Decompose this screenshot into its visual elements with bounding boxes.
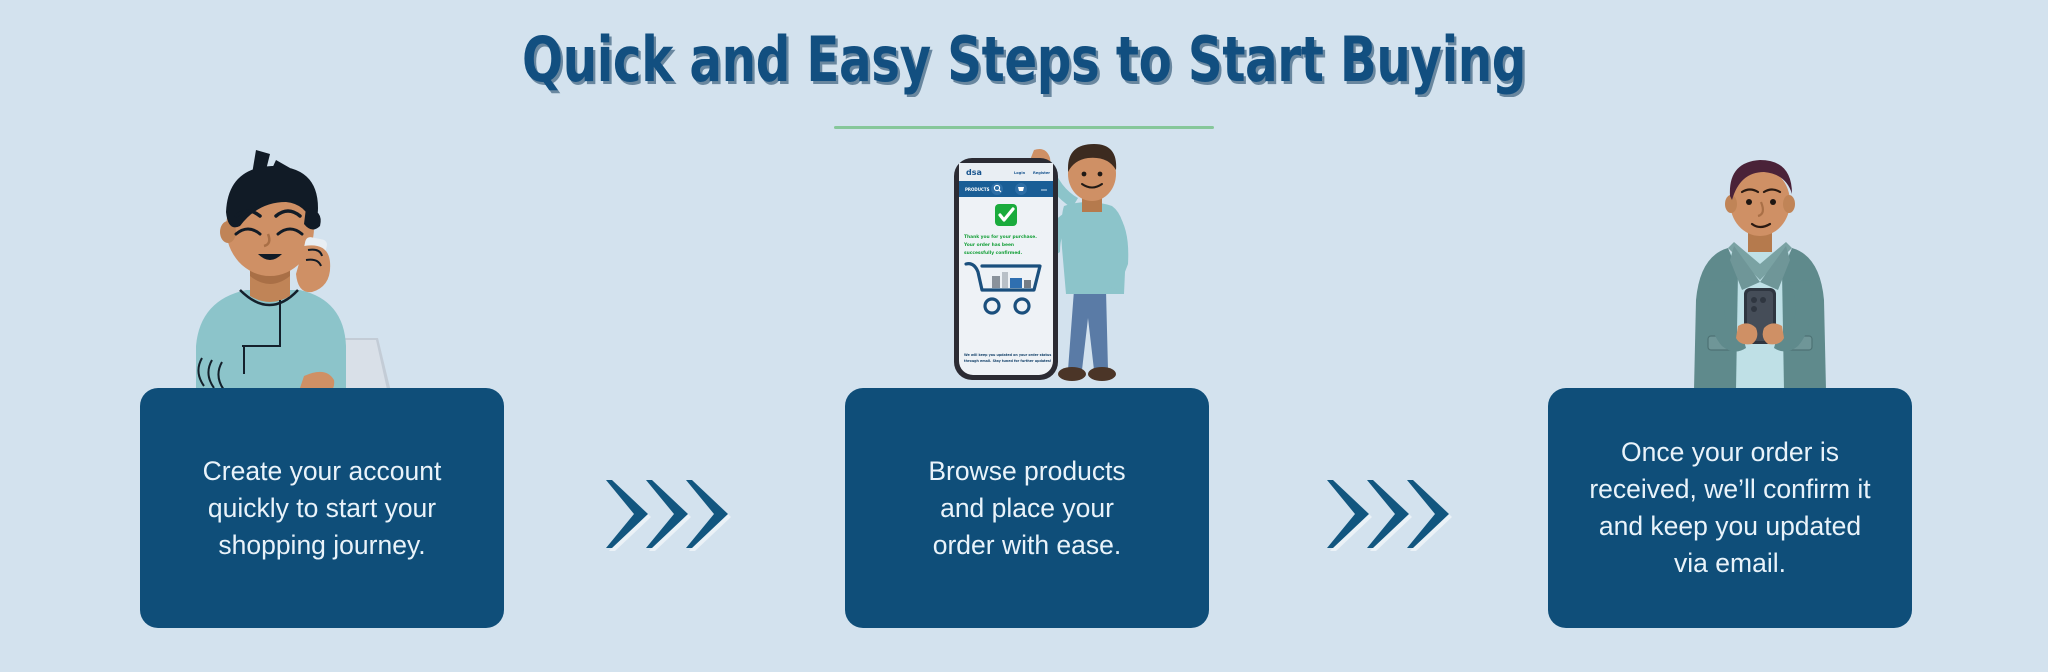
illustration-person-on-phone-with-laptop (178, 150, 468, 405)
svg-text:We will keep you updated on yo: We will keep you updated on your order s… (964, 353, 1051, 357)
title-divider (834, 126, 1214, 129)
connector-arrows-2 (1323, 478, 1443, 550)
step-card-3-text: Once your order is received, we’ll confi… (1589, 434, 1870, 582)
phone-nav-products: PRODUCTS (965, 187, 990, 192)
page-title: Quick and Easy Steps to Start Buying (225, 24, 1822, 96)
illustration-person-holding-smartphone (1660, 140, 1860, 410)
chevron-right-icon (682, 478, 734, 550)
phone-brand-logo: dsa (966, 168, 982, 177)
connector-arrows-1 (602, 478, 722, 550)
phone-search-icon (991, 183, 1003, 195)
step-card-1-text: Create your account quickly to start you… (203, 453, 442, 564)
step-card-2-text: Browse products and place your order wit… (928, 453, 1125, 564)
phone-register-link: Register (1033, 171, 1050, 175)
svg-text:Your order has been: Your order has been (963, 242, 1014, 248)
phone-login-link: Login (1014, 171, 1026, 175)
page-title-container: Quick and Easy Steps to Start Buying (0, 24, 2048, 96)
svg-text:successfully confirmed.: successfully confirmed. (964, 250, 1022, 256)
step-card-1[interactable]: Create your account quickly to start you… (140, 388, 504, 628)
infographic-canvas: Quick and Easy Steps to Start Buying (0, 0, 2048, 672)
svg-text:Thank you for your purchase.: Thank you for your purchase. (964, 234, 1037, 240)
svg-text:through email. Stay tuned for: through email. Stay tuned for further up… (964, 359, 1052, 363)
step-card-2[interactable]: Browse products and place your order wit… (845, 388, 1209, 628)
phone-mockup: dsa Login Register PRODUCTS (954, 158, 1058, 380)
green-check-icon (995, 204, 1017, 226)
illustration-person-with-giant-phone: dsa Login Register PRODUCTS (948, 140, 1148, 405)
chevron-right-icon (1403, 478, 1455, 550)
step-card-3[interactable]: Once your order is received, we’ll confi… (1548, 388, 1912, 628)
